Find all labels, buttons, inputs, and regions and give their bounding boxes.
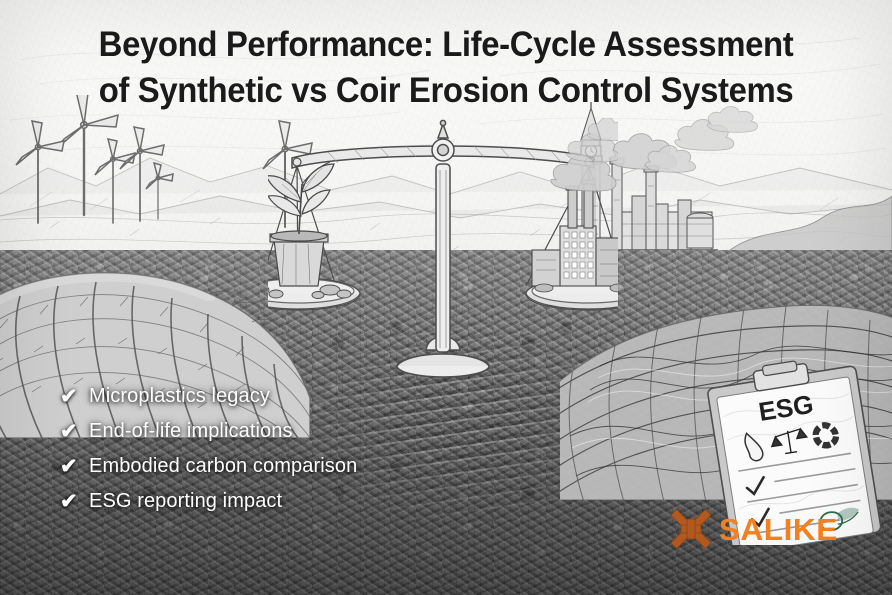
bullet-label: Microplastics legacy <box>89 385 270 408</box>
brand-logo[interactable]: SALIKE <box>668 506 837 552</box>
balance-scale <box>268 118 618 380</box>
list-item: ✔ Embodied carbon comparison <box>60 449 460 484</box>
potted-plant <box>268 162 351 299</box>
wind-turbine <box>146 163 173 219</box>
list-item: ✔ ESG reporting impact <box>60 484 460 519</box>
woven-knot-icon <box>668 506 714 552</box>
check-icon: ✔ <box>60 386 78 407</box>
poster-canvas: Beyond Performance: Life-Cycle Assessmen… <box>0 0 892 595</box>
bullet-label: ESG reporting impact <box>89 490 282 513</box>
list-item: ✔ End-of-life implications <box>60 414 460 449</box>
bullet-label: End-of-life implications <box>89 420 293 443</box>
check-icon: ✔ <box>60 456 78 477</box>
wind-turbine <box>95 139 135 223</box>
page-title: Beyond Performance: Life-Cycle Assessmen… <box>27 22 865 114</box>
bullet-label: Embodied carbon comparison <box>89 455 357 478</box>
factory-on-pan <box>532 118 618 292</box>
list-item: ✔ Microplastics legacy <box>60 379 460 414</box>
scale-column <box>436 164 450 352</box>
check-icon: ✔ <box>60 421 78 442</box>
smoke-plume <box>610 107 757 173</box>
wind-turbine <box>16 121 64 223</box>
bullet-list: ✔ Microplastics legacy ✔ End-of-life imp… <box>60 379 460 519</box>
brand-wordmark: SALIKE <box>719 514 838 545</box>
check-icon: ✔ <box>60 491 78 512</box>
